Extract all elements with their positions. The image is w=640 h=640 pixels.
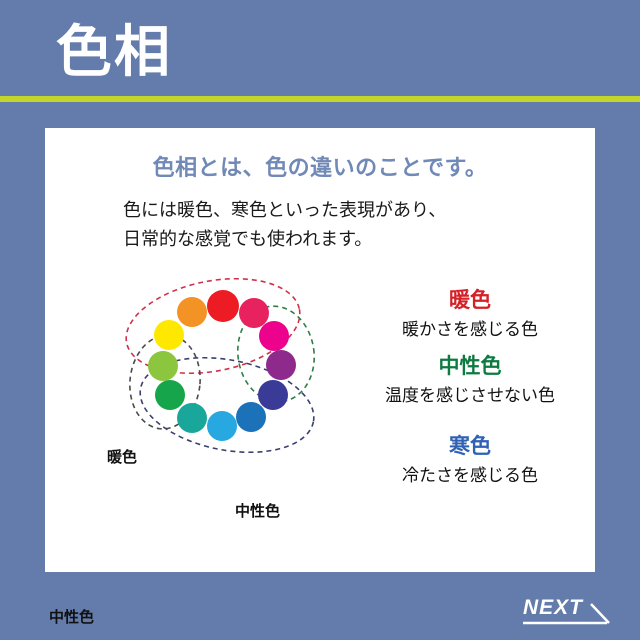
legend-desc-neutral: 温度を感じさせない色 [345,382,595,410]
body-line-1: 色には暖色、寒色といった表現があり、 [123,196,446,225]
body-line-2: 日常的な感覚でも使われます。 [123,225,446,254]
slide-canvas: 色相 色相とは、色の違いのことです。 色には暖色、寒色といった表現があり、 日常… [0,0,640,640]
swatch-orange [177,297,207,327]
color-wheel-diagram: 暖色 中性色 中性色 寒色 [45,278,345,568]
swatch-yellow [154,320,184,350]
legend-desc-warm: 暖かさを感じる色 [345,316,595,344]
legend-term-cool: 寒色 [345,432,595,462]
legend-item-warm: 暖色 暖かさを感じる色 [345,286,595,344]
wheel-label-warm: 暖色 [107,446,137,467]
lead-heading: 色相とは、色の違いのことです。 [45,150,595,182]
legend-desc-cool: 冷たさを感じる色 [345,462,595,490]
title-accent-rule [0,96,640,102]
content-card: 色相とは、色の違いのことです。 色には暖色、寒色といった表現があり、 日常的な感… [45,128,595,572]
wheel-label-neutral-left: 中性色 [49,606,94,627]
legend-item-cool: 寒色 冷たさを感じる色 [345,432,595,490]
swatch-red [207,290,239,322]
swatch-cyan [207,411,237,441]
swatch-teal [177,403,207,433]
legend-term-warm: 暖色 [345,286,595,316]
wheel-label-neutral-right: 中性色 [235,500,280,521]
swatch-green [155,380,185,410]
body-paragraph: 色には暖色、寒色といった表現があり、 日常的な感覚でも使われます。 [123,196,446,254]
next-button[interactable]: NEXT [521,596,613,630]
swatch-crimson [239,298,269,328]
swatch-purple [266,350,296,380]
legend-term-neutral: 中性色 [345,352,595,382]
swatch-indigo [258,380,288,410]
swatch-yellow-green [148,351,178,381]
legend-column: 暖色 暖かさを感じる色 中性色 温度を感じさせない色 寒色 冷たさを感じる色 [345,286,595,498]
swatch-magenta [259,321,289,351]
legend-item-neutral: 中性色 温度を感じさせない色 [345,352,595,410]
next-arrow-icon [521,596,613,630]
swatch-blue [236,402,266,432]
page-title: 色相 [56,18,172,86]
